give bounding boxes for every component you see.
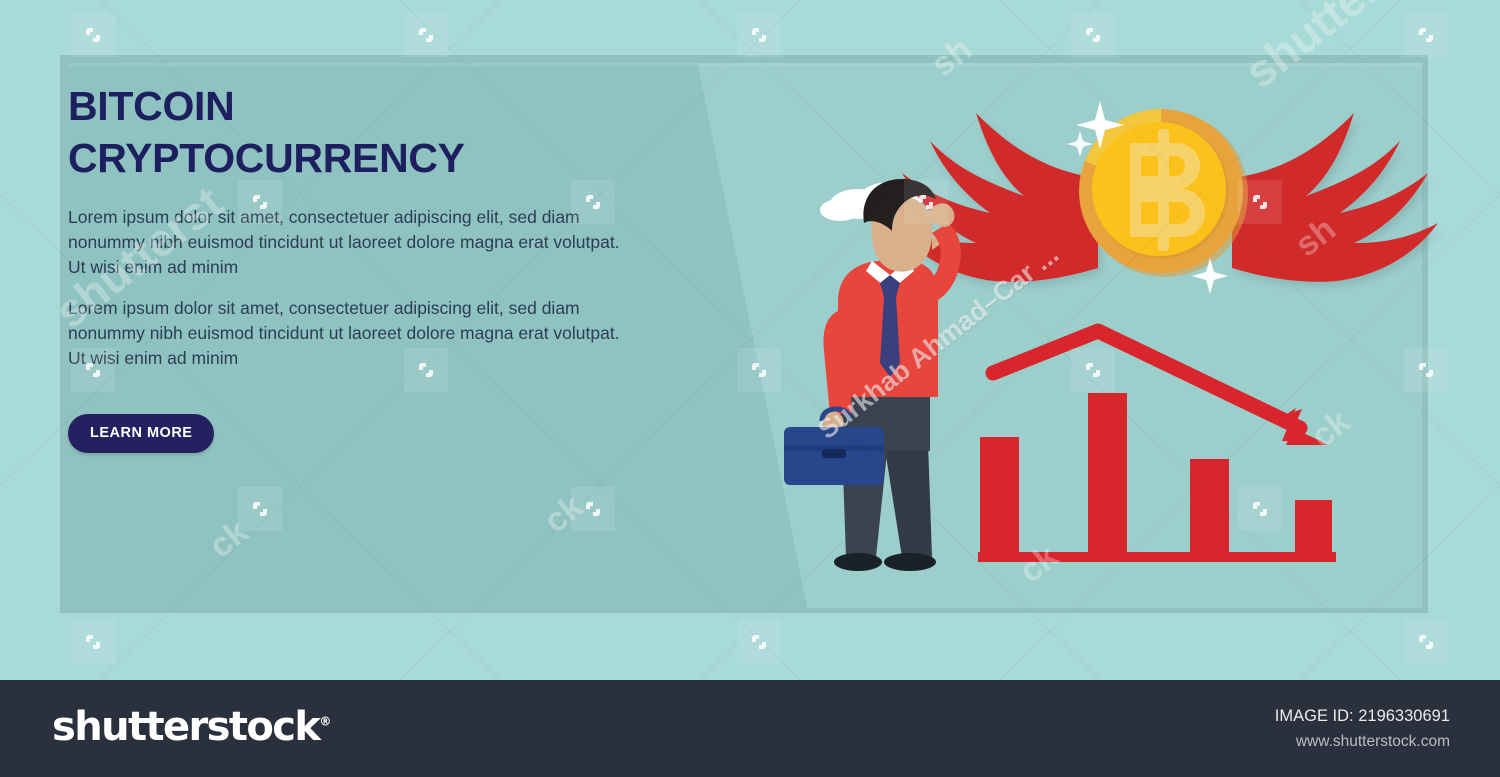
body-copy: Lorem ipsum dolor sit amet, consectetuer…	[68, 205, 688, 371]
paragraph-2: Lorem ipsum dolor sit amet, consectetuer…	[68, 296, 628, 371]
banner-screenshot: BITCOIN CRYPTOCURRENCY Lorem ipsum dolor…	[0, 0, 1500, 777]
headline-line-1: BITCOIN	[68, 83, 234, 129]
paragraph-1: Lorem ipsum dolor sit amet, consectetuer…	[68, 205, 628, 280]
bar-3	[1190, 459, 1229, 553]
learn-more-button[interactable]: LEARN MORE	[68, 414, 214, 453]
businessman-figure	[784, 179, 961, 571]
page-title: BITCOIN CRYPTOCURRENCY	[68, 80, 688, 185]
shutterstock-logo-text: shutterstock	[52, 704, 319, 750]
headline-line-2: CRYPTOCURRENCY	[68, 132, 688, 184]
footer-bar: shutterstock® IMAGE ID: 2196330691 www.s…	[0, 680, 1500, 777]
illustration	[780, 63, 1440, 623]
registered-mark-icon: ®	[319, 715, 331, 729]
bar-4	[1295, 500, 1332, 553]
right-wing-icon	[1232, 113, 1438, 282]
bar-chart	[978, 331, 1336, 562]
footer-meta: IMAGE ID: 2196330691 www.shutterstock.co…	[1275, 704, 1450, 754]
trend-down-arrow-icon	[993, 331, 1328, 445]
chart-baseline	[978, 552, 1336, 562]
shutterstock-logo: shutterstock®	[52, 704, 331, 750]
image-id-label: IMAGE ID: 2196330691	[1275, 704, 1450, 730]
shutterstock-url[interactable]: www.shutterstock.com	[1275, 730, 1450, 755]
bar-2	[1088, 393, 1127, 553]
bar-1	[980, 437, 1019, 553]
copy-column: BITCOIN CRYPTOCURRENCY Lorem ipsum dolor…	[68, 80, 688, 453]
winged-bitcoin-coin	[892, 101, 1438, 294]
